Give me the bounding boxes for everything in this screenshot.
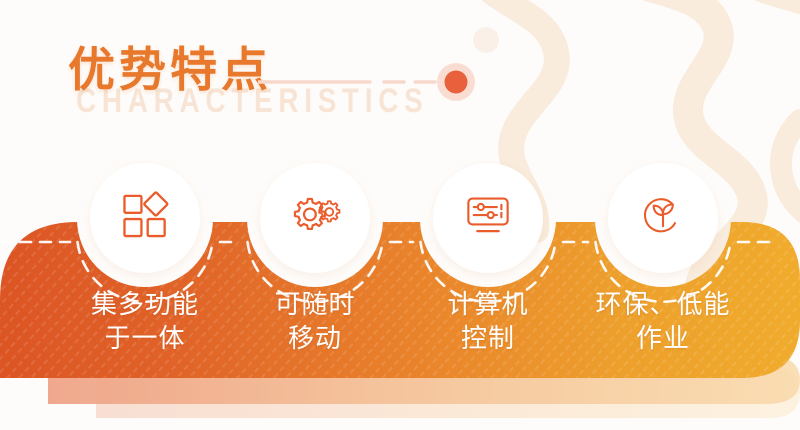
feature-label-3-line1: 计算机	[447, 289, 528, 319]
monitor-sliders-icon	[461, 191, 515, 246]
feature-label-2: 可随时 移动	[220, 288, 410, 356]
feature-label-1-line1: 集多功能	[91, 289, 199, 319]
feature-circle-2[interactable]	[260, 163, 370, 273]
sprout-icon	[638, 191, 688, 246]
feature-circle-4[interactable]	[608, 163, 718, 273]
feature-label-2-line2: 移动	[220, 322, 410, 356]
feature-circle-1[interactable]	[90, 163, 200, 273]
feature-label-2-line1: 可随时	[274, 289, 355, 319]
gears-icon	[288, 191, 342, 246]
feature-label-3-line2: 控制	[393, 322, 583, 356]
page-title: 优势特点	[68, 46, 272, 93]
feature-label-4-line1: 环保、低能	[595, 289, 730, 319]
header-divider	[258, 62, 488, 102]
feature-circle-3[interactable]	[433, 163, 543, 273]
feature-label-4: 环保、低能 作业	[568, 288, 758, 356]
infographic-banner: CHARACTERISTICS 优势特点	[0, 0, 800, 430]
feature-label-4-line2: 作业	[568, 322, 758, 356]
shapes-grid-icon	[120, 191, 170, 246]
feature-label-1: 集多功能 于一体	[50, 288, 240, 356]
feature-label-1-line2: 于一体	[50, 322, 240, 356]
feature-label-3: 计算机 控制	[393, 288, 583, 356]
header-end-dot	[445, 71, 468, 94]
